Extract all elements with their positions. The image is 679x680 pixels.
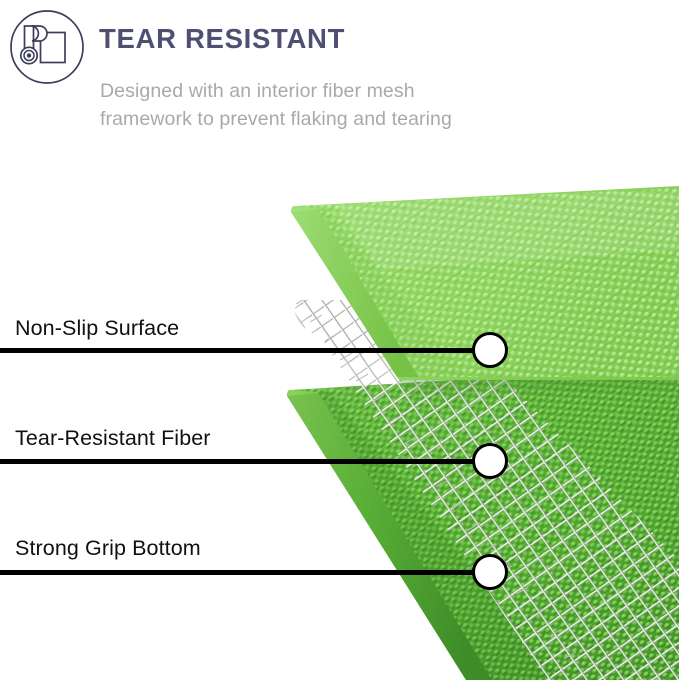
callout-leader-line xyxy=(0,570,492,575)
callout-dot-icon xyxy=(472,554,508,590)
page-title: TEAR RESISTANT xyxy=(99,25,345,53)
callout-leader-line xyxy=(0,459,492,464)
callout-label: Non-Slip Surface xyxy=(15,318,179,340)
mat-top-layer xyxy=(275,180,679,398)
callout-dot-icon xyxy=(472,332,508,368)
mat-roll-icon xyxy=(9,9,85,85)
callout-dot-icon xyxy=(472,443,508,479)
callout-label: Tear-Resistant Fiber xyxy=(15,428,211,450)
page-subtitle: Designed with an interior fiber mesh fra… xyxy=(100,78,480,133)
infographic-canvas: TEAR RESISTANT Designed with an interior… xyxy=(0,0,679,680)
header: TEAR RESISTANT Designed with an interior… xyxy=(0,0,679,185)
callout-leader-line xyxy=(0,348,492,353)
callout-label: Strong Grip Bottom xyxy=(15,538,201,560)
